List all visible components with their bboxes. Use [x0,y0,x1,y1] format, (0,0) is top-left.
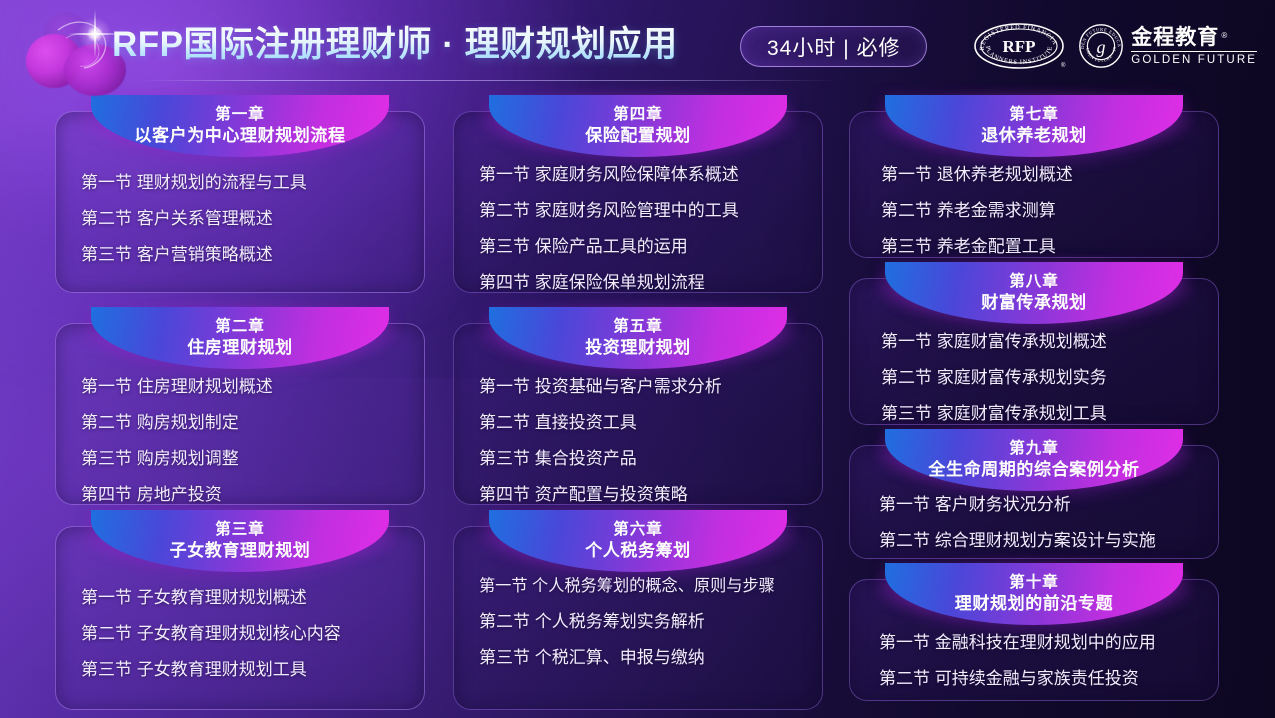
section-list: 第一节 家庭财务风险保障体系概述 第二节 家庭财务风险管理中的工具 第三节 保险… [453,157,823,301]
list-item[interactable]: 第一节 子女教育理财规划概述 [81,580,425,616]
list-item[interactable]: 第三节 集合投资产品 [479,441,823,477]
golden-future-cn: 金程教育 [1131,26,1219,49]
registered-mark: ® [1221,24,1228,47]
list-item[interactable]: 第一节 家庭财务风险保障体系概述 [479,157,823,193]
chapter-card-header: 第八章 财富传承规划 [849,262,1219,324]
chapter-card-header: 第二章 住房理财规划 [55,307,425,369]
list-item[interactable]: 第二节 家庭财务风险管理中的工具 [479,193,823,229]
chapter-card-4[interactable]: 第四章 保险配置规划 第一节 家庭财务风险保障体系概述 第二节 家庭财务风险管理… [453,95,823,293]
section-list: 第一节 理财规划的流程与工具 第二节 客户关系管理概述 第三节 客户营销策略概述 [55,165,425,273]
chapter-card-header: 第七章 退休养老规划 [849,95,1219,157]
logo-divider [1131,51,1257,52]
svg-text:RFP: RFP [1003,37,1036,56]
list-item[interactable]: 第二节 个人税务筹划实务解析 [479,604,823,640]
list-item[interactable]: 第一节 金融科技在理财规划中的应用 [879,625,1219,661]
golden-future-cn-wrap: 金程教育 ® [1131,26,1219,49]
list-item[interactable]: 第三节 购房规划调整 [81,441,425,477]
list-item[interactable]: 第一节 住房理财规划概述 [81,369,425,405]
chapter-card-header: 第四章 保险配置规划 [453,95,823,157]
chapter-card-3[interactable]: 第三章 子女教育理财规划 第一节 子女教育理财规划概述 第二节 子女教育理财规划… [55,510,425,710]
list-item[interactable]: 第三节 子女教育理财规划工具 [81,652,425,688]
list-item[interactable]: 第三节 保险产品工具的运用 [479,229,823,265]
golden-future-seal-icon: GOLDEN FUTURE EDUCATION GOLDEN FUTURE · … [1078,23,1124,69]
list-item[interactable]: 第二节 综合理财规划方案设计与实施 [879,523,1219,559]
section-list: 第一节 家庭财富传承规划概述 第二节 家庭财富传承规划实务 第三节 家庭财富传承… [849,324,1219,432]
list-item[interactable]: 第二节 家庭财富传承规划实务 [881,360,1219,396]
list-item[interactable]: 第一节 理财规划的流程与工具 [81,165,425,201]
list-item[interactable]: 第二节 客户关系管理概述 [81,201,425,237]
chapter-title: 退休养老规划 [981,126,1087,146]
chapter-title: 投资理财规划 [585,338,691,358]
sparkle-icon [78,17,112,51]
section-list: 第一节 投资基础与客户需求分析 第二节 直接投资工具 第三节 集合投资产品 第四… [453,369,823,513]
chapter-number: 第八章 [1009,273,1059,291]
list-item[interactable]: 第三节 个税汇算、申报与缴纳 [479,640,823,676]
list-item[interactable]: 第二节 购房规划制定 [81,405,425,441]
chapter-title: 全生命周期的综合案例分析 [928,460,1139,480]
chapter-number: 第十章 [1009,574,1059,592]
list-item[interactable]: 第一节 退休养老规划概述 [881,157,1219,193]
svg-text:®: ® [1061,62,1066,69]
chapter-title: 理财规划的前沿专题 [955,594,1113,614]
list-item[interactable]: 第二节 可持续金融与家族责任投资 [879,661,1219,697]
list-item[interactable]: 第一节 客户财务状况分析 [879,487,1219,523]
svg-text:g: g [1097,37,1106,57]
list-item[interactable]: 第二节 养老金需求测算 [881,193,1219,229]
chapter-card-header: 第五章 投资理财规划 [453,307,823,369]
chapter-grid: 第一章 以客户为中心理财规划流程 第一节 理财规划的流程与工具 第二节 客户关系… [0,95,1275,718]
chapter-number: 第三章 [215,521,265,539]
chapter-title: 财富传承规划 [981,293,1087,313]
chapter-title: 个人税务筹划 [585,541,691,561]
list-item[interactable]: 第三节 客户营销策略概述 [81,237,425,273]
chapter-number: 第四章 [613,106,663,124]
section-list: 第一节 个人税务筹划的概念、原则与步骤 第二节 个人税务筹划实务解析 第三节 个… [453,568,823,676]
list-item[interactable]: 第一节 个人税务筹划的概念、原则与步骤 [479,568,823,604]
chapter-number: 第二章 [215,318,265,336]
chapter-card-8[interactable]: 第八章 财富传承规划 第一节 家庭财富传承规划概述 第二节 家庭财富传承规划实务… [849,262,1219,425]
chapter-number: 第七章 [1009,106,1059,124]
chapter-card-header: 第三章 子女教育理财规划 [55,510,425,572]
chapter-title: 住房理财规划 [187,338,293,358]
list-item[interactable]: 第四节 家庭保险保单规划流程 [479,265,823,301]
chapter-card-header: 第九章 全生命周期的综合案例分析 [849,429,1219,491]
chapter-number: 第六章 [613,521,663,539]
section-list: 第一节 退休养老规划概述 第二节 养老金需求测算 第三节 养老金配置工具 [849,157,1219,265]
list-item[interactable]: 第二节 直接投资工具 [479,405,823,441]
section-list: 第一节 金融科技在理财规划中的应用 第二节 可持续金融与家族责任投资 [849,625,1219,697]
chapter-card-2[interactable]: 第二章 住房理财规划 第一节 住房理财规划概述 第二节 购房规划制定 第三节 购… [55,307,425,505]
section-list: 第一节 客户财务状况分析 第二节 综合理财规划方案设计与实施 [849,487,1219,559]
chapter-card-9[interactable]: 第九章 全生命周期的综合案例分析 第一节 客户财务状况分析 第二节 综合理财规划… [849,429,1219,559]
page-title: RFP国际注册理财师 · 理财规划应用 [112,22,678,68]
chapter-number: 第九章 [1009,440,1059,458]
list-item[interactable]: 第一节 家庭财富传承规划概述 [881,324,1219,360]
logo-group: REGISTERED FINANCIAL PLANNERS INSTITUTE … [972,18,1257,74]
chapter-title: 以客户为中心理财规划流程 [134,126,345,146]
chapter-card-1[interactable]: 第一章 以客户为中心理财规划流程 第一节 理财规划的流程与工具 第二节 客户关系… [55,95,425,293]
chapter-card-header: 第六章 个人税务筹划 [453,510,823,572]
header-divider [140,80,840,81]
section-list: 第一节 子女教育理财规划概述 第二节 子女教育理财规划核心内容 第三节 子女教育… [55,580,425,688]
rfp-logo: REGISTERED FINANCIAL PLANNERS INSTITUTE … [972,21,1066,71]
chapter-card-6[interactable]: 第六章 个人税务筹划 第一节 个人税务筹划的概念、原则与步骤 第二节 个人税务筹… [453,510,823,710]
chapter-title: 保险配置规划 [585,126,691,146]
golden-future-en: GOLDEN FUTURE [1131,54,1257,67]
page-header: RFP国际注册理财师 · 理财规划应用 34小时 | 必修 REGISTERED… [0,0,1275,95]
chapter-title: 子女教育理财规划 [170,541,311,561]
golden-future-logo: GOLDEN FUTURE EDUCATION GOLDEN FUTURE · … [1078,23,1257,69]
course-hours-badge: 34小时 | 必修 [740,26,927,67]
chapter-number: 第一章 [215,106,265,124]
chapter-number: 第五章 [613,318,663,336]
list-item[interactable]: 第二节 子女教育理财规划核心内容 [81,616,425,652]
section-list: 第一节 住房理财规划概述 第二节 购房规划制定 第三节 购房规划调整 第四节 房… [55,369,425,513]
list-item[interactable]: 第一节 投资基础与客户需求分析 [479,369,823,405]
chapter-card-header: 第一章 以客户为中心理财规划流程 [55,95,425,157]
chapter-card-10[interactable]: 第十章 理财规划的前沿专题 第一节 金融科技在理财规划中的应用 第二节 可持续金… [849,563,1219,701]
chapter-card-5[interactable]: 第五章 投资理财规划 第一节 投资基础与客户需求分析 第二节 直接投资工具 第三… [453,307,823,505]
chapter-card-7[interactable]: 第七章 退休养老规划 第一节 退休养老规划概述 第二节 养老金需求测算 第三节 … [849,95,1219,258]
chapter-card-header: 第十章 理财规划的前沿专题 [849,563,1219,625]
